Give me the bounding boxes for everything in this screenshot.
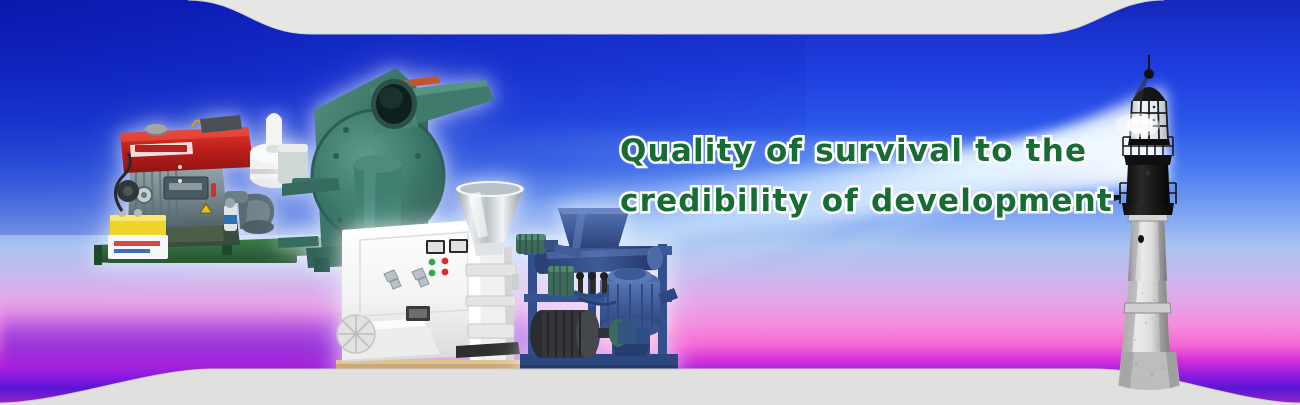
slogan-text: Quality of survival to the credibility o… (620, 126, 1060, 226)
lighthouse-image (1088, 55, 1278, 405)
lighthouse-base-overlap (1118, 352, 1180, 394)
slogan-line-1: Quality of survival to the (620, 126, 1060, 176)
pellet-mill-image (328, 178, 543, 383)
slogan-line-2: credibility of development (620, 176, 1060, 226)
promotional-banner: Quality of survival to the credibility o… (0, 0, 1300, 405)
